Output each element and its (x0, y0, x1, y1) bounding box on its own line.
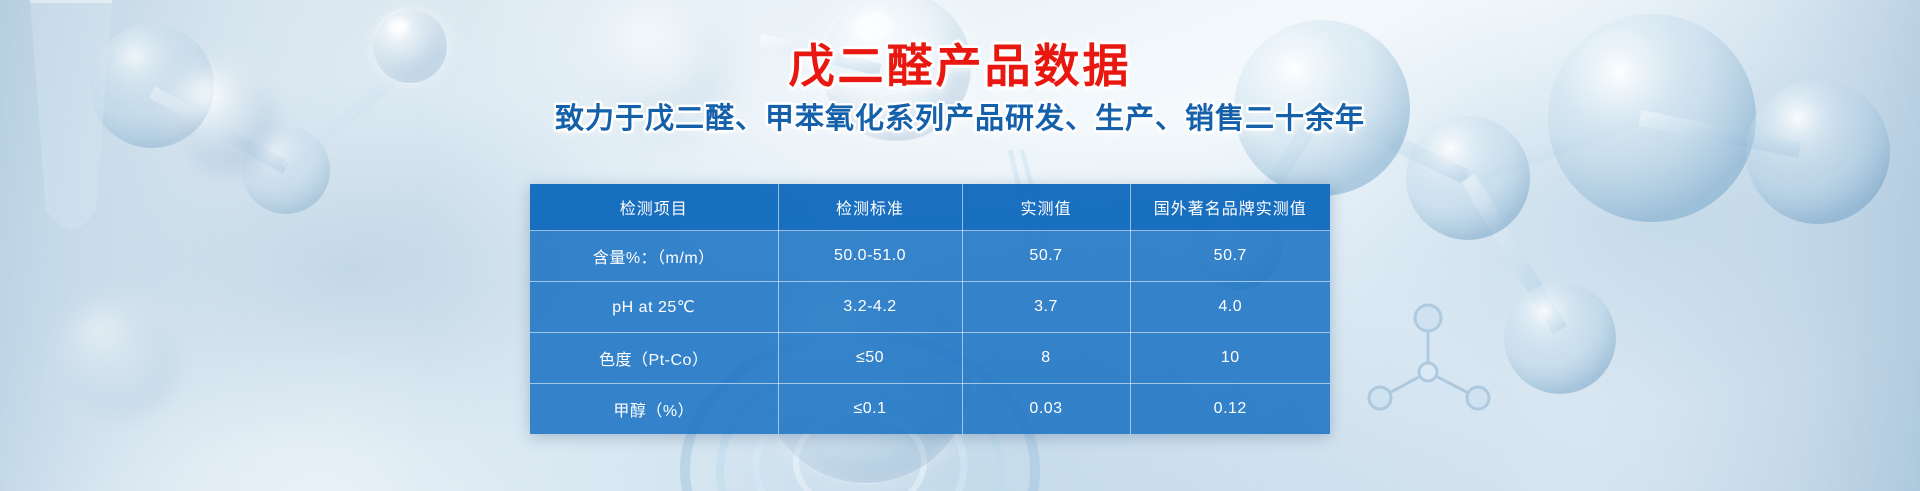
cell-test-standard: 50.0-51.0 (778, 231, 962, 282)
cell-test-standard: ≤50 (778, 333, 962, 384)
table-header-row: 检测项目 检测标准 实测值 国外著名品牌实测值 (530, 184, 1330, 231)
page-title: 戊二醛产品数据 (0, 42, 1920, 90)
column-header-measured-value: 实测值 (962, 184, 1130, 231)
table-row: pH at 25℃ 3.2-4.2 3.7 4.0 (530, 282, 1330, 333)
headline-block: 戊二醛产品数据 致力于戊二醛、甲苯氧化系列产品研发、生产、销售二十余年 (0, 42, 1920, 136)
cell-foreign-value: 0.12 (1130, 384, 1330, 435)
table-row: 色度（Pt-Co） ≤50 8 10 (530, 333, 1330, 384)
column-header-test-standard: 检测标准 (778, 184, 962, 231)
cell-test-item: 甲醇（%） (530, 384, 778, 435)
cell-test-standard: 3.2-4.2 (778, 282, 962, 333)
cell-foreign-value: 4.0 (1130, 282, 1330, 333)
table-row: 甲醇（%） ≤0.1 0.03 0.12 (530, 384, 1330, 435)
cell-foreign-value: 10 (1130, 333, 1330, 384)
cell-measured-value: 50.7 (962, 231, 1130, 282)
column-header-foreign-brand-measured-value: 国外著名品牌实测值 (1130, 184, 1330, 231)
cell-test-item: pH at 25℃ (530, 282, 778, 333)
cell-measured-value: 3.7 (962, 282, 1130, 333)
cell-foreign-value: 50.7 (1130, 231, 1330, 282)
product-data-banner: 戊二醛产品数据 致力于戊二醛、甲苯氧化系列产品研发、生产、销售二十余年 检测项目… (0, 0, 1920, 491)
spec-table-container: 检测项目 检测标准 实测值 国外著名品牌实测值 含量%：（m/m） 50.0-5… (530, 184, 1330, 434)
page-subtitle: 致力于戊二醛、甲苯氧化系列产品研发、生产、销售二十余年 (0, 104, 1920, 136)
cell-test-standard: ≤0.1 (778, 384, 962, 435)
product-spec-table: 检测项目 检测标准 实测值 国外著名品牌实测值 含量%：（m/m） 50.0-5… (530, 184, 1330, 434)
cell-measured-value: 0.03 (962, 384, 1130, 435)
cell-measured-value: 8 (962, 333, 1130, 384)
decorative-bubble (60, 300, 182, 422)
cell-test-item: 色度（Pt-Co） (530, 333, 778, 384)
column-header-test-item: 检测项目 (530, 184, 778, 231)
table-row: 含量%：（m/m） 50.0-51.0 50.7 50.7 (530, 231, 1330, 282)
cell-test-item: 含量%：（m/m） (530, 231, 778, 282)
